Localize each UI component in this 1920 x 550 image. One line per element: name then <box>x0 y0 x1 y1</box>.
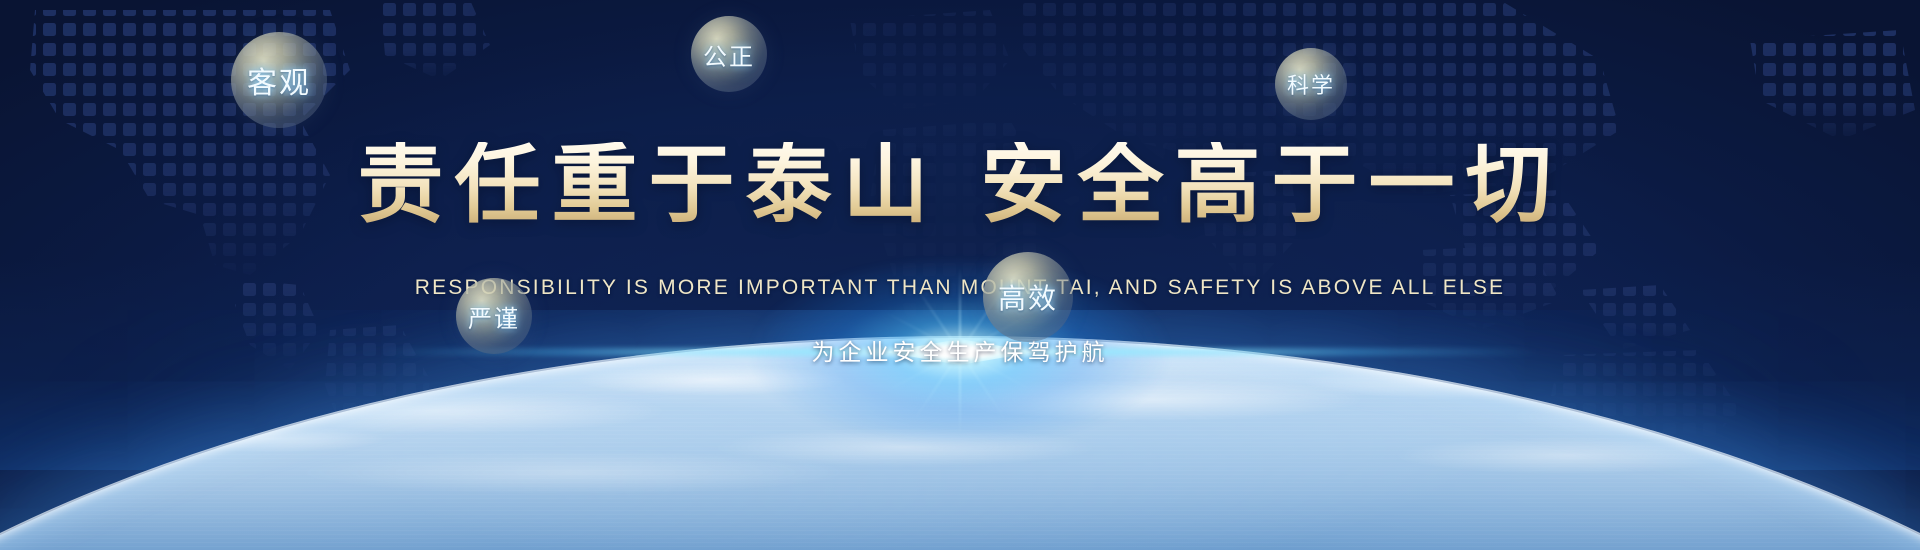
value-badge-keguan[interactable]: 客观 <box>231 32 327 128</box>
value-badge-kexue[interactable]: 科学 <box>1275 48 1347 120</box>
earth-atmosphere-rim <box>0 336 1920 550</box>
value-badge-label: 公正 <box>703 37 755 72</box>
chinese-subtitle: 为企业安全生产保驾护航 <box>0 333 1920 367</box>
value-badge-gaoxiao[interactable]: 高效 <box>983 252 1073 342</box>
page-title: 责任重于泰山 安全高于一切 <box>0 142 1920 228</box>
safety-banner: 责任重于泰山 安全高于一切 RESPONSIBILITY IS MORE IMP… <box>0 0 1920 550</box>
value-badge-label: 高效 <box>998 277 1058 317</box>
value-badge-label: 客观 <box>247 58 311 102</box>
value-badge-label: 严谨 <box>468 299 520 334</box>
value-badge-yanjin[interactable]: 严谨 <box>456 278 532 354</box>
value-badge-gongzheng[interactable]: 公正 <box>691 16 767 92</box>
english-subtitle: RESPONSIBILITY IS MORE IMPORTANT THAN MO… <box>0 276 1920 300</box>
value-badge-label: 科学 <box>1287 68 1335 100</box>
